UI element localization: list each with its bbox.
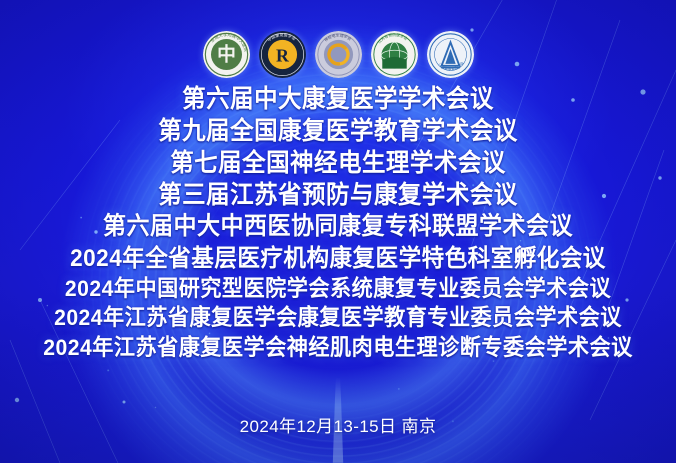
jiangsu-rehab-emblem-icon: 江苏省康复医学会 — [427, 31, 474, 78]
zhongda-hospital-emblem-icon: 中 东南大学附属中大医院 — [203, 31, 250, 78]
svg-text:R: R — [276, 46, 290, 66]
svg-text:中: 中 — [217, 43, 236, 65]
title-line-4: 第三届江苏省预防与康复学术会议 — [20, 183, 655, 208]
title-line-7: 2024年中国研究型医院学会系统康复专业委员会学术会议 — [20, 278, 655, 301]
title-line-6: 2024年全省基层医疗机构康复医学特色科室孵化会议 — [20, 247, 655, 271]
conference-poster: 中 东南大学附属中大医院 R 中国康复医学会 — [0, 0, 676, 463]
title-line-1: 第六届中大康复医学学术会议 — [20, 87, 655, 112]
title-line-5: 第六届中大中西医协同康复专科联盟学术会议 — [20, 215, 655, 240]
date-location-text: 2024年12月13-15日 南京 — [0, 412, 676, 437]
title-line-9: 2024年江苏省康复医学会神经肌肉电生理诊断专委会学术会议 — [20, 337, 655, 360]
title-line-3: 第七届全国神经电生理学术会议 — [20, 151, 655, 176]
organizer-logos-row: 中 东南大学附属中大医院 R 中国康复医学会 — [0, 31, 676, 78]
title-line-8: 2024年江苏省康复医学会康复医学教育专业委员会学术会议 — [20, 307, 655, 330]
conference-title-block: 第六届中大康复医学学术会议 第九届全国康复医学教育学术会议 第七届全国神经电生理… — [0, 87, 676, 359]
rehab-association-emblem-icon: R 中国康复医学会 — [259, 31, 306, 78]
prevention-society-emblem-icon: 江苏省预防医学会 — [371, 31, 418, 78]
neuro-society-emblem-icon: 神经电生理学会 — [315, 31, 362, 78]
title-line-2: 第九届全国康复医学教育学术会议 — [20, 119, 655, 144]
